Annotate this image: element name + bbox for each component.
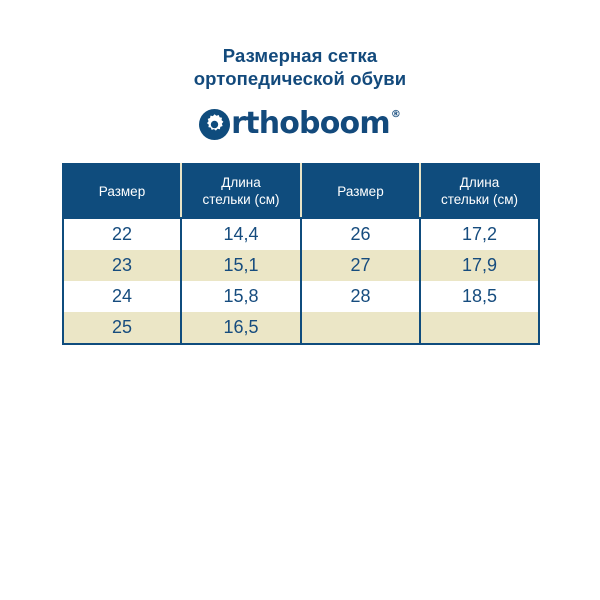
table-row: 24 15,8 28 18,5 — [63, 281, 539, 312]
cell-size-right: 27 — [301, 250, 420, 281]
cell-insole-left: 16,5 — [181, 312, 301, 344]
cell-size-left: 22 — [63, 218, 181, 250]
gear-o-icon — [199, 109, 230, 145]
cell-insole-left: 15,1 — [181, 250, 301, 281]
table-row: 22 14,4 26 17,2 — [63, 218, 539, 250]
size-table-container: Размер Длина стельки (см) Размер Длина с… — [62, 163, 538, 345]
cell-size-left: 24 — [63, 281, 181, 312]
cell-size-right: 26 — [301, 218, 420, 250]
cell-insole-right: 17,9 — [420, 250, 539, 281]
size-table: Размер Длина стельки (см) Размер Длина с… — [62, 163, 540, 345]
cell-insole-right: 17,2 — [420, 218, 539, 250]
cell-insole-right: 18,5 — [420, 281, 539, 312]
page-title-line-2: ортопедической обуви — [0, 67, 600, 90]
column-header-insole-right: Длина стельки (см) — [420, 164, 539, 218]
size-chart-page: Размерная сетка ортопедической обуви rth… — [0, 0, 600, 600]
column-header-insole-left: Длина стельки (см) — [181, 164, 301, 218]
table-row: 25 16,5 — [63, 312, 539, 344]
cell-insole-left: 15,8 — [181, 281, 301, 312]
registered-trademark-icon: ® — [391, 110, 401, 120]
cell-insole-left: 14,4 — [181, 218, 301, 250]
brand-logo-inner: rthoboom ® — [199, 109, 401, 145]
cell-size-left: 25 — [63, 312, 181, 344]
size-table-header: Размер Длина стельки (см) Размер Длина с… — [63, 164, 539, 218]
brand-wordmark: rthoboom — [231, 109, 390, 139]
header-row: Размер Длина стельки (см) Размер Длина с… — [63, 164, 539, 218]
column-header-size-right-line1: Размер — [308, 183, 413, 200]
cell-size-left: 23 — [63, 250, 181, 281]
column-header-size-left: Размер — [63, 164, 181, 218]
brand-logo: rthoboom ® — [0, 109, 600, 145]
page-title-line-1: Размерная сетка — [0, 44, 600, 67]
column-header-insole-right-line1: Длина — [427, 174, 532, 191]
column-header-insole-left-line1: Длина — [188, 174, 294, 191]
column-header-size-right: Размер — [301, 164, 420, 218]
column-header-size-left-line1: Размер — [70, 183, 174, 200]
cell-insole-right — [420, 312, 539, 344]
cell-size-right: 28 — [301, 281, 420, 312]
column-header-insole-left-line2: стельки (см) — [188, 191, 294, 208]
column-header-insole-right-line2: стельки (см) — [427, 191, 532, 208]
cell-size-right — [301, 312, 420, 344]
table-row: 23 15,1 27 17,9 — [63, 250, 539, 281]
page-title: Размерная сетка ортопедической обуви — [0, 44, 600, 90]
size-table-body: 22 14,4 26 17,2 23 15,1 27 17,9 24 15,8 … — [63, 218, 539, 344]
